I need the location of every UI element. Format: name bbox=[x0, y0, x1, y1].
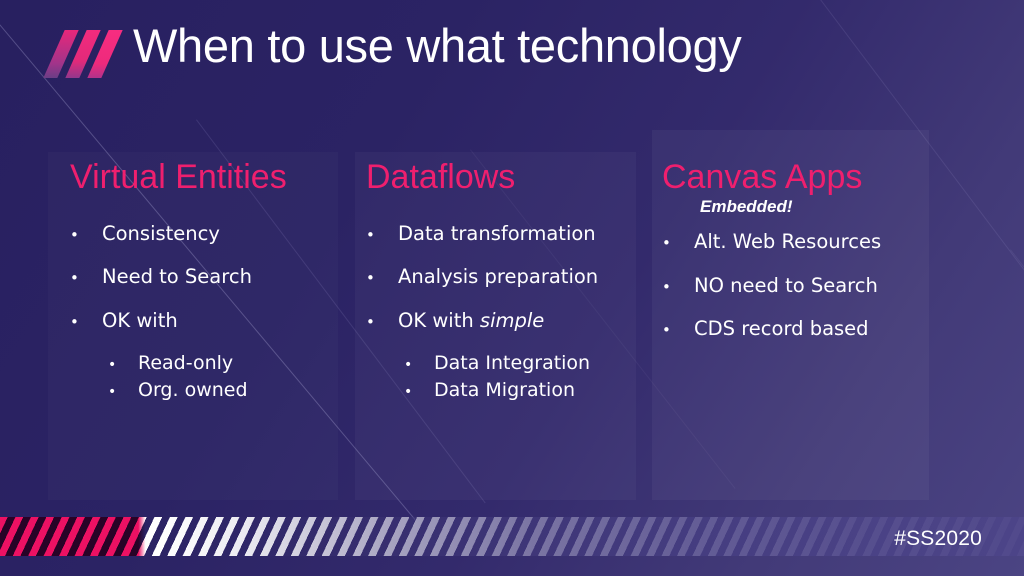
bullet-dot-icon: • bbox=[108, 358, 138, 372]
bullet-list-virtual-entities: • Consistency • Need to Search • OK with… bbox=[70, 224, 350, 401]
list-item: • Data transformation bbox=[366, 224, 651, 244]
bullet-dot-icon: • bbox=[108, 385, 138, 399]
list-item-label: Need to Search bbox=[102, 267, 252, 287]
bullet-dot-icon: • bbox=[70, 271, 102, 286]
list-item-label: OK with simple bbox=[398, 311, 544, 331]
list-item-label: NO need to Search bbox=[694, 276, 878, 296]
list-item-emphasis: simple bbox=[480, 309, 544, 332]
list-item: • OK with simple bbox=[366, 311, 651, 331]
bullet-dot-icon: • bbox=[366, 271, 398, 286]
bullet-dot-icon: • bbox=[70, 228, 102, 243]
list-item: • Data Migration bbox=[366, 381, 651, 400]
bullet-dot-icon: • bbox=[404, 358, 434, 372]
list-item: • Need to Search bbox=[70, 267, 350, 287]
column-virtual-entities: Virtual Entities • Consistency • Need to… bbox=[70, 160, 350, 408]
columns-area: Virtual Entities • Consistency • Need to… bbox=[0, 0, 1024, 576]
column-heading-canvas-apps: Canvas Apps bbox=[662, 160, 952, 196]
stripe-pink-tint bbox=[0, 517, 1024, 556]
column-heading-virtual-entities: Virtual Entities bbox=[70, 160, 350, 196]
list-item: • Consistency bbox=[70, 224, 350, 244]
list-item-label: Org. owned bbox=[138, 381, 248, 400]
bullet-dot-icon: • bbox=[366, 315, 398, 330]
bullet-dot-icon: • bbox=[662, 280, 694, 295]
list-item-label: Data Migration bbox=[434, 381, 575, 400]
column-canvas-apps: Canvas Apps Embedded! • Alt. Web Resourc… bbox=[662, 160, 952, 363]
list-item-label: Alt. Web Resources bbox=[694, 232, 881, 252]
footer-stripe-band bbox=[0, 517, 1024, 556]
list-item-label: OK with bbox=[102, 311, 178, 331]
list-item: • NO need to Search bbox=[662, 276, 952, 296]
list-item-label: Read-only bbox=[138, 354, 233, 373]
list-item-label: Analysis preparation bbox=[398, 267, 598, 287]
list-item: • Org. owned bbox=[70, 381, 350, 400]
bullet-dot-icon: • bbox=[70, 315, 102, 330]
bullet-dot-icon: • bbox=[404, 385, 434, 399]
bullet-list-canvas-apps: • Alt. Web Resources • NO need to Search… bbox=[662, 232, 952, 339]
list-item-label: Data Integration bbox=[434, 354, 590, 373]
bullet-dot-icon: • bbox=[662, 236, 694, 251]
list-item-label: Data transformation bbox=[398, 224, 596, 244]
column-dataflows: Dataflows • Data transformation • Analys… bbox=[366, 160, 651, 408]
list-item: • Read-only bbox=[70, 354, 350, 373]
list-item: • Data Integration bbox=[366, 354, 651, 373]
list-item: • Alt. Web Resources bbox=[662, 232, 952, 252]
list-item: • Analysis preparation bbox=[366, 267, 651, 287]
list-item: • OK with bbox=[70, 311, 350, 331]
list-item-label: CDS record based bbox=[694, 319, 869, 339]
list-item-prefix: OK with bbox=[398, 309, 480, 332]
column-subtitle-embedded: Embedded! bbox=[700, 198, 952, 217]
column-heading-dataflows: Dataflows bbox=[366, 160, 651, 196]
event-hashtag: #SS2020 bbox=[894, 527, 982, 551]
bullet-dot-icon: • bbox=[662, 323, 694, 338]
bullet-dot-icon: • bbox=[366, 228, 398, 243]
slide: When to use what technology Virtual Enti… bbox=[0, 0, 1024, 576]
list-item: • CDS record based bbox=[662, 319, 952, 339]
bullet-list-dataflows: • Data transformation • Analysis prepara… bbox=[366, 224, 651, 401]
list-item-label: Consistency bbox=[102, 224, 220, 244]
